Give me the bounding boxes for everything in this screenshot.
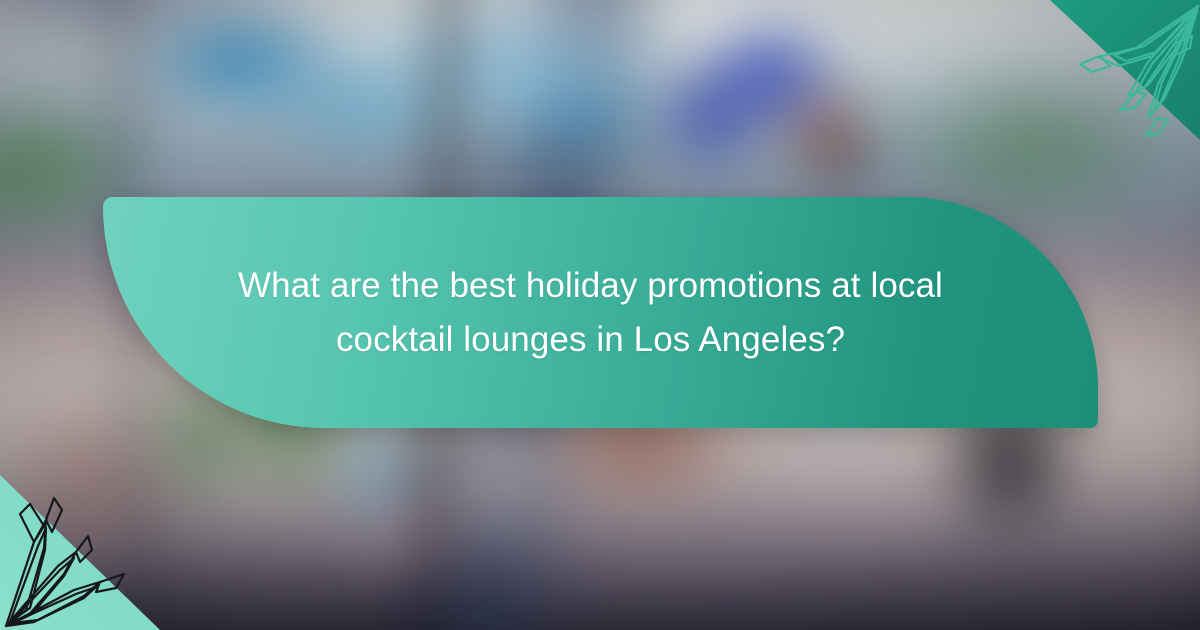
- leaf-fan-ornament-icon: [0, 470, 170, 630]
- headline-card: What are the best holiday promotions at …: [103, 197, 1098, 428]
- page-title: What are the best holiday promotions at …: [196, 259, 986, 366]
- leaf-fan-ornament-icon: [1040, 0, 1200, 150]
- social-card-canvas: What are the best holiday promotions at …: [0, 0, 1200, 630]
